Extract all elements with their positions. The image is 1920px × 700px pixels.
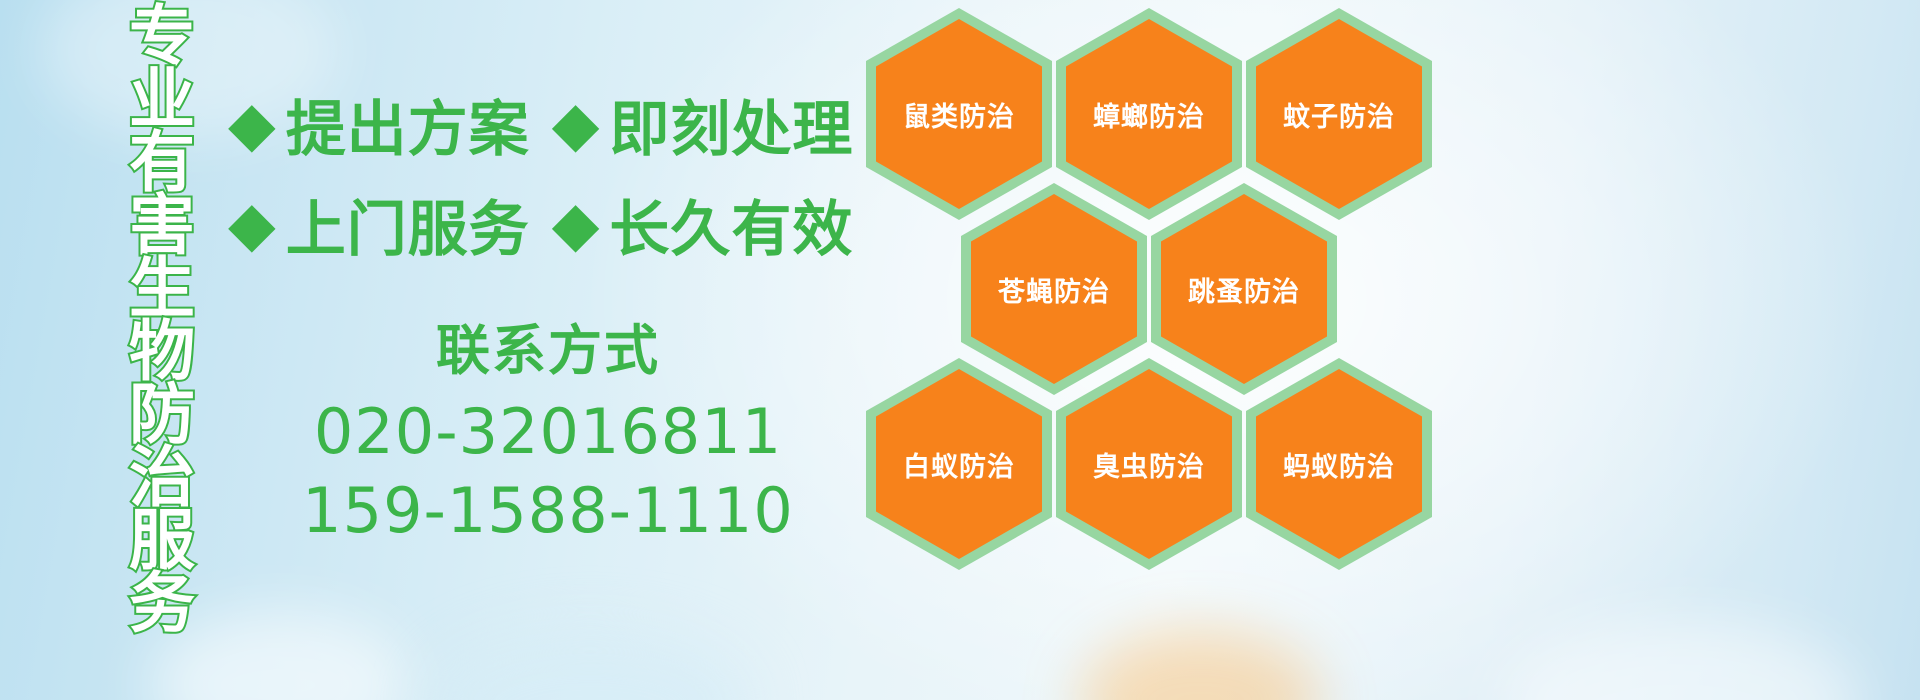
hex-inner: 蚂蚁防治 [1256,369,1422,559]
hex-cell-bedbug[interactable]: 臭虫防治 [1056,358,1242,570]
hex-inner: 苍蝇防治 [971,194,1137,384]
contact-phone-mobile[interactable]: 159-1588-1110 [228,471,868,550]
background-blob [430,630,750,700]
contact-block: 联系方式 020-32016811 159-1588-1110 [228,320,868,551]
vertical-title-char: 防 [129,384,195,447]
hex-cell-ant[interactable]: 蚂蚁防治 [1246,358,1432,570]
slogan-list: ◆ 提出方案 ◆ 即刻处理 ◆ 上门服务 ◆ 长久有效 [228,74,868,274]
hex-cell-cockroach[interactable]: 蟑螂防治 [1056,8,1242,220]
diamond-bullet-icon: ◆ [552,193,600,255]
hex-label: 臭虫防治 [1093,445,1205,484]
hex-label: 白蚁防治 [903,445,1015,484]
vertical-title-char: 有 [129,132,195,195]
vertical-title-char: 务 [129,573,195,636]
diamond-bullet-icon: ◆ [552,93,600,155]
hex-label: 蟑螂防治 [1093,95,1205,134]
slogan-text: 即刻处理 [609,81,853,168]
slogan-row: ◆ 上门服务 ◆ 长久有效 [228,174,868,274]
vertical-title-char: 专 [129,6,195,69]
pest-control-banner: 专 业 有 害 生 物 防 治 服 务 ◆ 提出方案 ◆ 即刻处理 ◆ 上门服务… [0,0,1920,700]
hex-inner: 跳蚤防治 [1161,194,1327,384]
hex-inner: 蟑螂防治 [1066,19,1232,209]
hex-inner: 蚊子防治 [1256,19,1422,209]
hex-inner: 白蚁防治 [876,369,1042,559]
hex-label: 跳蚤防治 [1188,270,1300,309]
slogan-text: 长久有效 [609,181,853,268]
hex-cell-flea[interactable]: 跳蚤防治 [1151,183,1337,395]
vertical-title-char: 害 [129,195,195,258]
vertical-title-char: 生 [129,258,195,321]
hex-label: 苍蝇防治 [998,270,1110,309]
contact-title: 联系方式 [228,320,868,382]
background-blob [1500,620,1860,700]
service-honeycomb: 鼠类防治 蟑螂防治 蚊子防治 苍蝇防治 跳蚤防治 白蚁防治 [860,0,1460,700]
hex-label: 鼠类防治 [903,95,1015,134]
slogan-text: 上门服务 [286,181,530,268]
slogan-text: 提出方案 [286,81,530,168]
hex-label: 蚊子防治 [1283,95,1395,134]
hex-label: 蚂蚁防治 [1283,445,1395,484]
contact-phone-landline[interactable]: 020-32016811 [228,392,868,471]
vertical-title-char: 物 [129,321,195,384]
vertical-title: 专 业 有 害 生 物 防 治 服 务 [104,6,220,646]
vertical-title-char: 治 [129,447,195,510]
hex-cell-mosquito[interactable]: 蚊子防治 [1246,8,1432,220]
diamond-bullet-icon: ◆ [228,193,276,255]
diamond-bullet-icon: ◆ [228,93,276,155]
vertical-title-char: 业 [129,69,195,132]
hex-cell-rodent[interactable]: 鼠类防治 [866,8,1052,220]
hex-cell-termite[interactable]: 白蚁防治 [866,358,1052,570]
vertical-title-char: 服 [129,510,195,573]
hex-inner: 鼠类防治 [876,19,1042,209]
slogan-row: ◆ 提出方案 ◆ 即刻处理 [228,74,868,174]
hex-inner: 臭虫防治 [1066,369,1232,559]
hex-cell-fly[interactable]: 苍蝇防治 [961,183,1147,395]
